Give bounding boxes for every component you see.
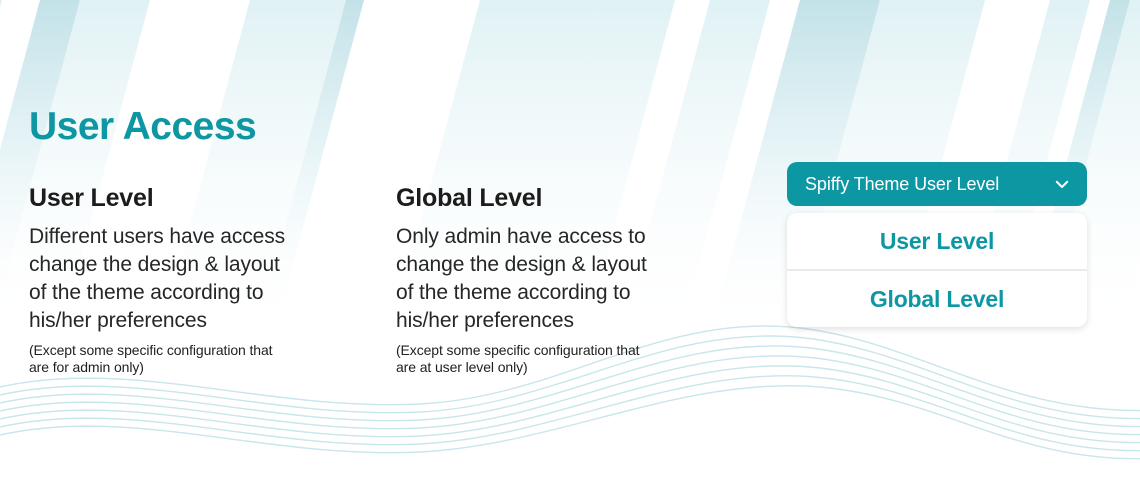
dropdown-menu: User Level Global Level xyxy=(787,213,1087,327)
slide-canvas: User Access User Level Different users h… xyxy=(0,0,1140,500)
global-level-heading: Global Level xyxy=(396,185,741,213)
user-level-note: (Except some specific configuration that… xyxy=(29,342,374,376)
user-level-description: Different users have access change the d… xyxy=(29,223,374,335)
page-title: User Access xyxy=(29,107,256,146)
user-level-column: User Level Different users have access c… xyxy=(29,185,374,376)
user-level-heading: User Level xyxy=(29,185,374,213)
global-level-note: (Except some specific configuration that… xyxy=(396,342,741,376)
theme-user-level-dropdown-toggle[interactable]: Spiffy Theme User Level xyxy=(787,162,1087,206)
global-level-column: Global Level Only admin have access to c… xyxy=(396,185,741,376)
theme-user-level-dropdown: Spiffy Theme User Level User Level Globa… xyxy=(787,162,1087,327)
dropdown-selected-label: Spiffy Theme User Level xyxy=(805,174,1053,195)
dropdown-option-global-level[interactable]: Global Level xyxy=(787,271,1087,327)
chevron-down-icon xyxy=(1053,175,1071,193)
dropdown-option-user-level[interactable]: User Level xyxy=(787,213,1087,269)
global-level-description: Only admin have access to change the des… xyxy=(396,223,741,335)
